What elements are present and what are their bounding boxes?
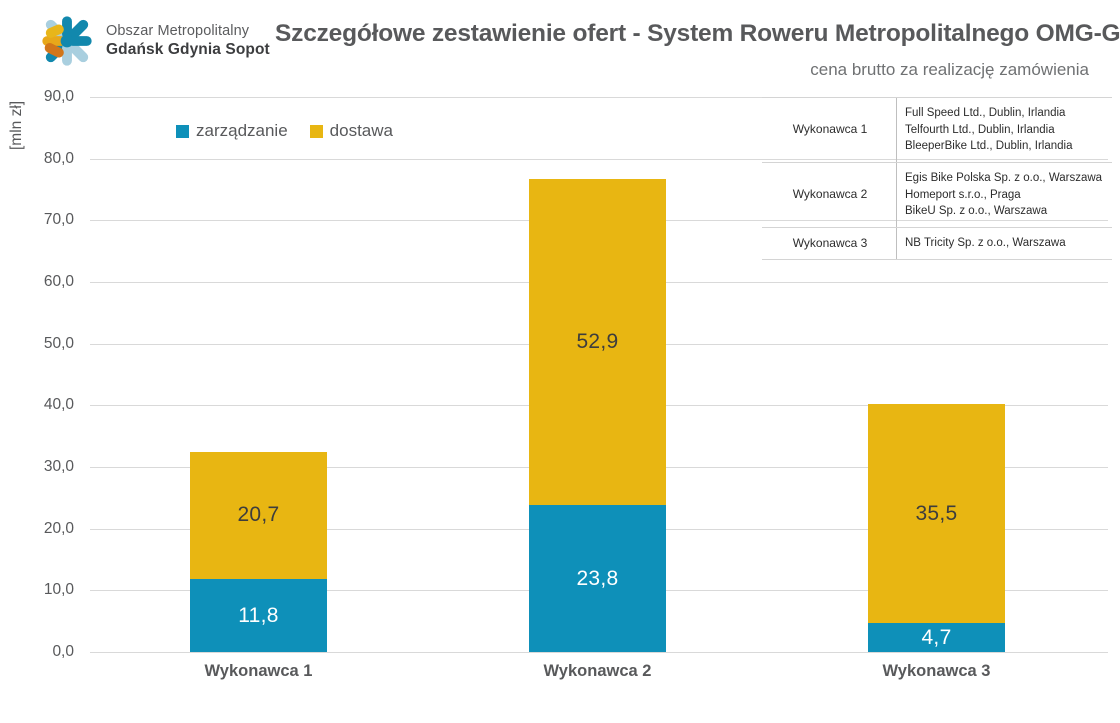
table-row: Wykonawca 1Full Speed Ltd., Dublin, Irla… [762, 98, 1112, 163]
x-axis-category-label: Wykonawca 1 [159, 662, 359, 681]
company-entry: Telfourth Ltd., Dublin, Irlandia [905, 122, 1106, 139]
company-entry: Homeport s.r.o., Praga [905, 187, 1106, 204]
bar-value-label: 23,8 [576, 567, 618, 591]
y-axis-tick-label: 50,0 [0, 335, 86, 353]
bar-value-label: 52,9 [576, 330, 618, 354]
bar-value-label: 35,5 [915, 502, 957, 526]
y-axis-tick-label: 20,0 [0, 520, 86, 538]
table-cell-companies: Egis Bike Polska Sp. z o.o., WarszawaHom… [897, 163, 1113, 228]
y-axis-tick-label: 80,0 [0, 150, 86, 168]
bar-segment-zarzadzanie[interactable]: 11,8 [190, 579, 327, 652]
x-axis-category-label: Wykonawca 2 [498, 662, 698, 681]
bar-value-label: 20,7 [237, 503, 279, 527]
table-cell-companies: NB Tricity Sp. z o.o., Warszawa [897, 228, 1113, 260]
contractors-table: Wykonawca 1Full Speed Ltd., Dublin, Irla… [762, 97, 1112, 260]
bar-stack[interactable]: 35,54,7 [868, 404, 1005, 652]
y-axis-tick-label: 10,0 [0, 581, 86, 599]
legend-label: dostawa [330, 121, 393, 141]
chart-subtitle: cena brutto za realizację zamówienia [275, 60, 1095, 80]
table-row: Wykonawca 2Egis Bike Polska Sp. z o.o., … [762, 163, 1112, 228]
legend-swatch-dostawa [310, 125, 323, 138]
chart-legend: zarządzaniedostawa [176, 121, 393, 141]
table-cell-contractor-name: Wykonawca 2 [762, 163, 897, 228]
table-row: Wykonawca 3NB Tricity Sp. z o.o., Warsza… [762, 228, 1112, 260]
legend-item[interactable]: zarządzanie [176, 121, 288, 141]
table-cell-contractor-name: Wykonawca 3 [762, 228, 897, 260]
y-axis-tick-label: 40,0 [0, 396, 86, 414]
organization-logo: Obszar Metropolitalny Gdańsk Gdynia Sopo… [38, 12, 270, 70]
company-entry: Full Speed Ltd., Dublin, Irlandia [905, 105, 1106, 122]
logo-line-1: Obszar Metropolitalny [106, 22, 270, 40]
legend-item[interactable]: dostawa [310, 121, 393, 141]
bar-stack[interactable]: 20,711,8 [190, 452, 327, 652]
y-axis-tick-label: 60,0 [0, 273, 86, 291]
bar-value-label: 4,7 [921, 626, 951, 650]
x-axis-category-label: Wykonawca 3 [837, 662, 1037, 681]
table-cell-companies: Full Speed Ltd., Dublin, IrlandiaTelfour… [897, 98, 1113, 163]
y-axis-tick-label: 90,0 [0, 88, 86, 106]
bar-stack[interactable]: 52,923,8 [529, 179, 666, 652]
y-axis-title: [mln zł] [8, 101, 26, 150]
bar-segment-dostawa[interactable]: 20,7 [190, 452, 327, 580]
bar-value-label: 11,8 [238, 604, 279, 628]
chart-page: Obszar Metropolitalny Gdańsk Gdynia Sopo… [0, 0, 1120, 723]
bar-segment-dostawa[interactable]: 35,5 [868, 404, 1005, 623]
company-entry: Egis Bike Polska Sp. z o.o., Warszawa [905, 170, 1106, 187]
bar-segment-zarzadzanie[interactable]: 23,8 [529, 505, 666, 652]
legend-label: zarządzanie [196, 121, 288, 141]
bar-segment-dostawa[interactable]: 52,9 [529, 179, 666, 505]
gridline [90, 652, 1108, 653]
company-entry: NB Tricity Sp. z o.o., Warszawa [905, 235, 1106, 252]
bar-segment-zarzadzanie[interactable]: 4,7 [868, 623, 1005, 652]
company-entry: BleeperBike Ltd., Dublin, Irlandia [905, 138, 1106, 155]
y-axis-tick-label: 0,0 [0, 643, 86, 661]
company-entry: BikeU Sp. z o.o., Warszawa [905, 203, 1106, 220]
y-axis-tick-label: 70,0 [0, 211, 86, 229]
table-cell-contractor-name: Wykonawca 1 [762, 98, 897, 163]
y-axis-tick-label: 30,0 [0, 458, 86, 476]
legend-swatch-zarzadzanie [176, 125, 189, 138]
logo-line-2: Gdańsk Gdynia Sopot [106, 40, 270, 59]
chart-title: Szczegółowe zestawienie ofert - System R… [275, 20, 1095, 48]
omgs-flower-logo-icon [38, 12, 96, 70]
